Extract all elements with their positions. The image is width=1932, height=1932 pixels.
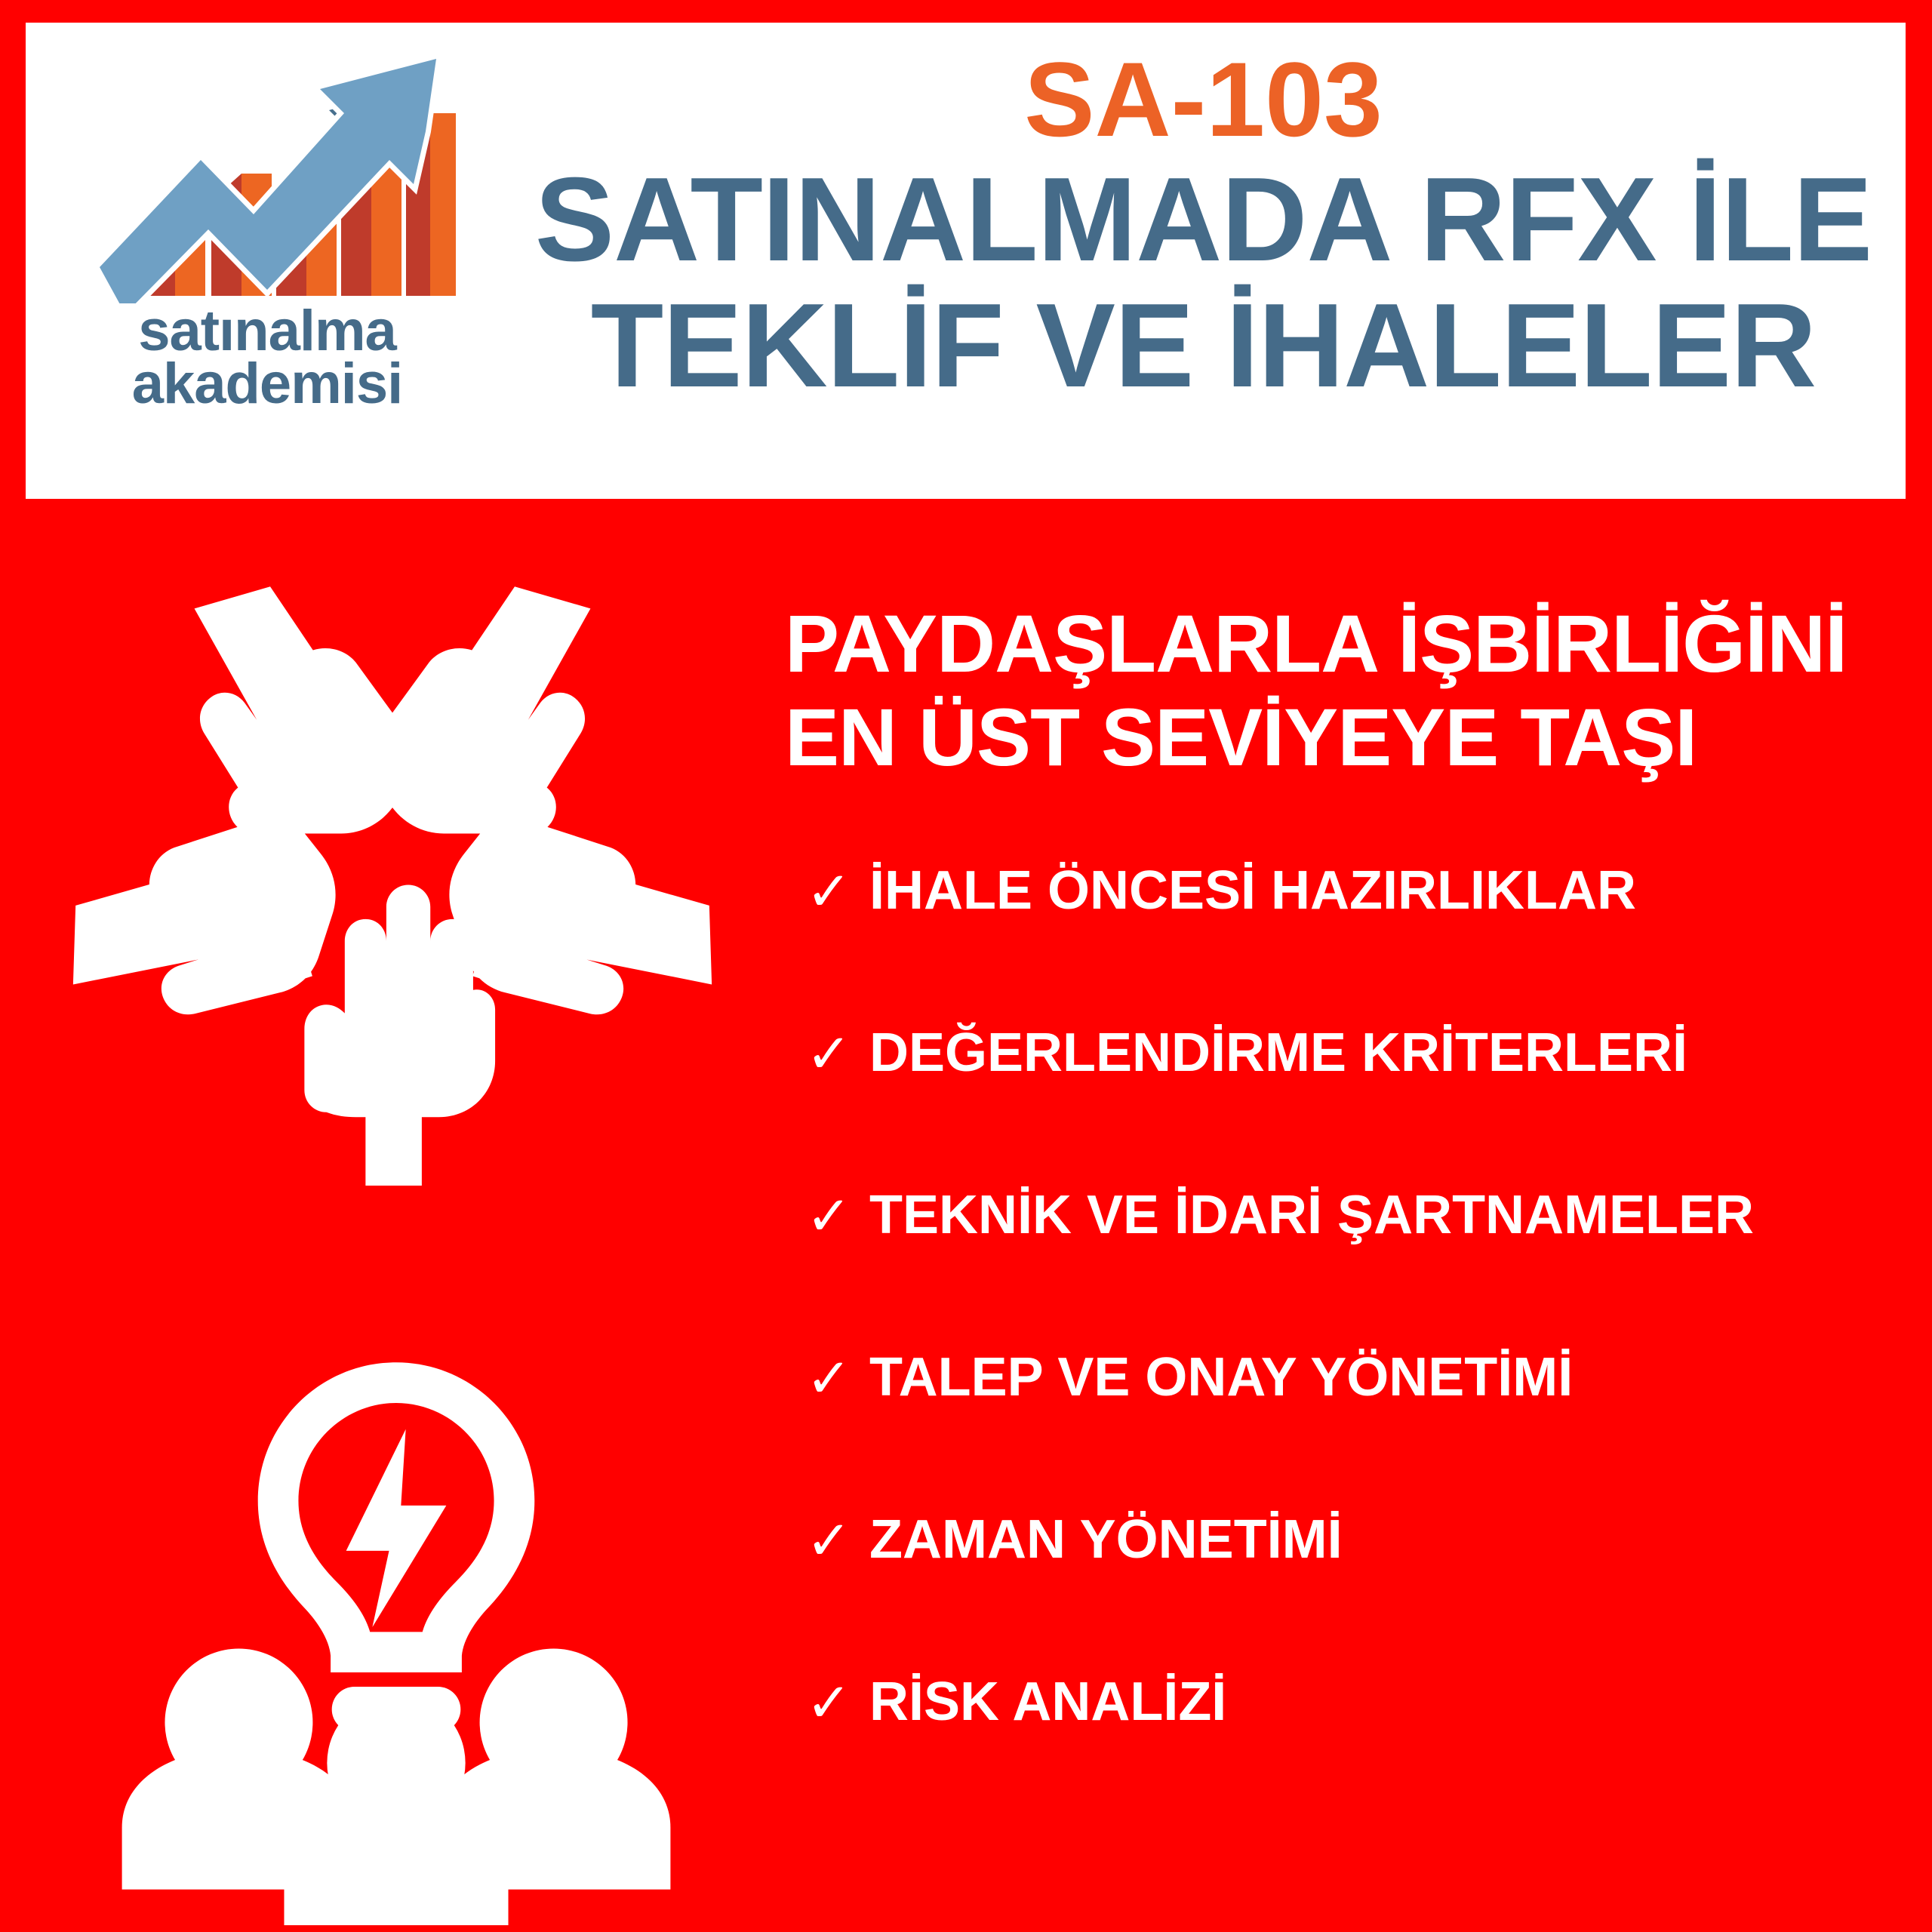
logo-wordmark-line1: satınalma <box>132 305 403 358</box>
course-title-line1: SATINALMADA RFX İLE <box>535 157 1872 283</box>
icon-column <box>45 574 724 1903</box>
growth-chart-arrow-icon <box>78 41 456 303</box>
check-icon: ✓ <box>800 1675 869 1730</box>
check-icon: ✓ <box>800 1513 869 1567</box>
topic-list: ✓ İHALE ÖNCESİ HAZIRLIKLAR ✓ DEĞERLENDİR… <box>800 835 1902 1759</box>
list-item-label: TALEP VE ONAY YÖNETİMİ <box>869 1348 1573 1407</box>
brand-logo: satınalma akademisi <box>26 23 509 499</box>
list-item-label: İHALE ÖNCESİ HAZIRLIKLAR <box>869 861 1636 921</box>
list-item-label: DEĞERLENDİRME KRİTERLERİ <box>869 1023 1687 1083</box>
list-item: ✓ İHALE ÖNCESİ HAZIRLIKLAR <box>800 835 1902 948</box>
list-item: ✓ DEĞERLENDİRME KRİTERLERİ <box>800 997 1902 1110</box>
course-title: SATINALMADA RFX İLE TEKLİF VE İHALELER <box>535 157 1872 410</box>
section-heading-line1: PAYDAŞLARLA İŞBİRLİĞİNİ <box>785 597 1887 691</box>
collaborating-hands-icon <box>60 574 724 1186</box>
list-item: ✓ TALEP VE ONAY YÖNETİMİ <box>800 1321 1902 1435</box>
section-heading: PAYDAŞLARLA İŞBİRLİĞİNİ EN ÜST SEVİYEYE … <box>785 597 1887 784</box>
list-item: ✓ TEKNİK VE İDARİ ŞARTNAMELER <box>800 1159 1902 1272</box>
header-panel: satınalma akademisi SA-103 SATINALMADA R… <box>26 23 1906 499</box>
course-title-line2: TEKLİF VE İHALELER <box>535 283 1872 409</box>
logo-wordmark-line2: akademisi <box>132 358 403 411</box>
list-item-label: ZAMAN YÖNETİMİ <box>869 1510 1343 1570</box>
header-text-block: SA-103 SATINALMADA RFX İLE TEKLİF VE İHA… <box>509 23 1906 499</box>
check-icon: ✓ <box>800 1189 869 1243</box>
list-item: ✓ ZAMAN YÖNETİMİ <box>800 1484 1902 1597</box>
section-heading-line2: EN ÜST SEVİYEYE TAŞI <box>785 691 1887 784</box>
list-item-label: TEKNİK VE İDARİ ŞARTNAMELER <box>869 1186 1754 1245</box>
logo-wordmark: satınalma akademisi <box>132 305 403 411</box>
list-item: ✓ RİSK ANALİZİ <box>800 1646 1902 1759</box>
course-code: SA-103 <box>1024 47 1383 152</box>
list-item-label: RİSK ANALİZİ <box>869 1672 1226 1732</box>
body-area: PAYDAŞLARLA İŞBİRLİĞİNİ EN ÜST SEVİYEYE … <box>0 499 1932 1932</box>
check-icon: ✓ <box>800 864 869 918</box>
check-icon: ✓ <box>800 1351 869 1405</box>
idea-team-lightbulb-icon <box>98 1329 694 1925</box>
check-icon: ✓ <box>800 1026 869 1081</box>
content-column: PAYDAŞLARLA İŞBİRLİĞİNİ EN ÜST SEVİYEYE … <box>770 499 1902 1932</box>
